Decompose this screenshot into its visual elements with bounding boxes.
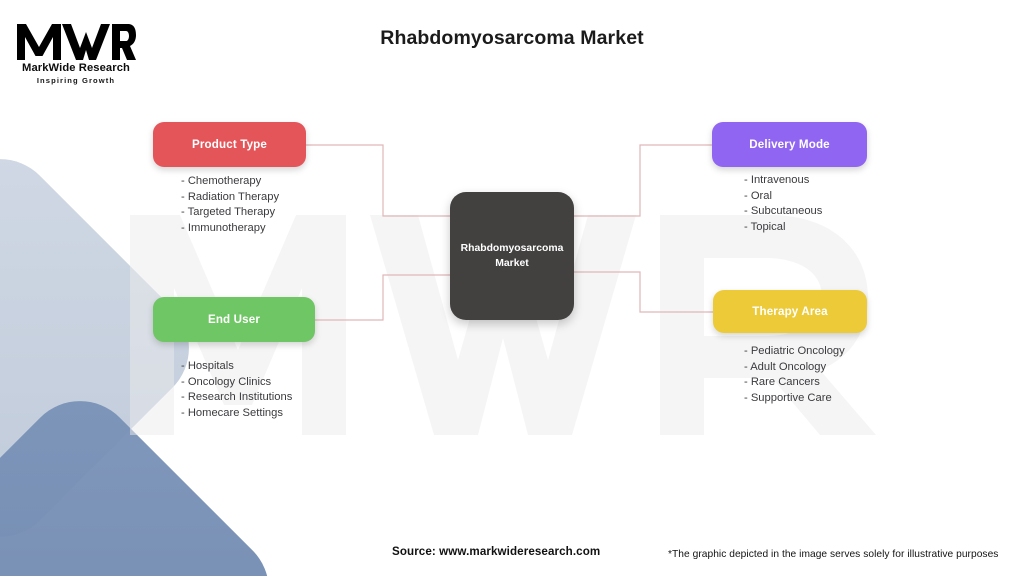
branch-box-end-user[interactable]: End User bbox=[153, 297, 315, 342]
page-title: Rhabdomyosarcoma Market bbox=[0, 27, 1024, 50]
list-item: - Chemotherapy bbox=[181, 174, 279, 190]
list-item: - Immunotherapy bbox=[181, 221, 279, 237]
branch-label-therapy-area: Therapy Area bbox=[752, 305, 827, 318]
list-item: - Oncology Clinics bbox=[181, 375, 292, 391]
branch-list-end-user: - Hospitals - Oncology Clinics - Researc… bbox=[181, 359, 292, 421]
center-node-label: Rhabdomyosarcoma Market bbox=[456, 241, 568, 271]
list-item: - Intravenous bbox=[744, 173, 822, 189]
center-node-line2: Market bbox=[495, 258, 529, 269]
branch-list-product-type: - Chemotherapy - Radiation Therapy - Tar… bbox=[181, 174, 279, 236]
list-item: - Hospitals bbox=[181, 359, 292, 375]
branch-box-therapy-area[interactable]: Therapy Area bbox=[713, 290, 867, 333]
footer-source[interactable]: Source: www.markwideresearch.com bbox=[392, 545, 600, 558]
branch-list-therapy-area: - Pediatric Oncology - Adult Oncology - … bbox=[744, 344, 845, 406]
center-node[interactable]: Rhabdomyosarcoma Market bbox=[450, 192, 574, 320]
footer-disclaimer: *The graphic depicted in the image serve… bbox=[668, 549, 998, 560]
branch-label-product-type: Product Type bbox=[192, 138, 267, 151]
list-item: - Topical bbox=[744, 220, 822, 236]
list-item: - Subcutaneous bbox=[744, 204, 822, 220]
infographic-canvas: MarkWide Research Inspiring Growth Rhabd… bbox=[0, 0, 1024, 576]
branch-list-delivery-mode: - Intravenous - Oral - Subcutaneous - To… bbox=[744, 173, 822, 235]
list-item: - Pediatric Oncology bbox=[744, 344, 845, 360]
list-item: - Oral bbox=[744, 189, 822, 205]
branch-label-end-user: End User bbox=[208, 313, 260, 326]
list-item: - Rare Cancers bbox=[744, 375, 845, 391]
list-item: - Radiation Therapy bbox=[181, 190, 279, 206]
list-item: - Adult Oncology bbox=[744, 360, 845, 376]
logo-tagline: Inspiring Growth bbox=[14, 76, 138, 85]
list-item: - Supportive Care bbox=[744, 391, 845, 407]
list-item: - Targeted Therapy bbox=[181, 205, 279, 221]
list-item: - Homecare Settings bbox=[181, 406, 292, 422]
branch-box-delivery-mode[interactable]: Delivery Mode bbox=[712, 122, 867, 167]
branch-box-product-type[interactable]: Product Type bbox=[153, 122, 306, 167]
center-node-line1: Rhabdomyosarcoma bbox=[461, 243, 564, 254]
branch-label-delivery-mode: Delivery Mode bbox=[749, 138, 830, 151]
list-item: - Research Institutions bbox=[181, 390, 292, 406]
logo-brand-name: MarkWide Research bbox=[14, 62, 138, 74]
